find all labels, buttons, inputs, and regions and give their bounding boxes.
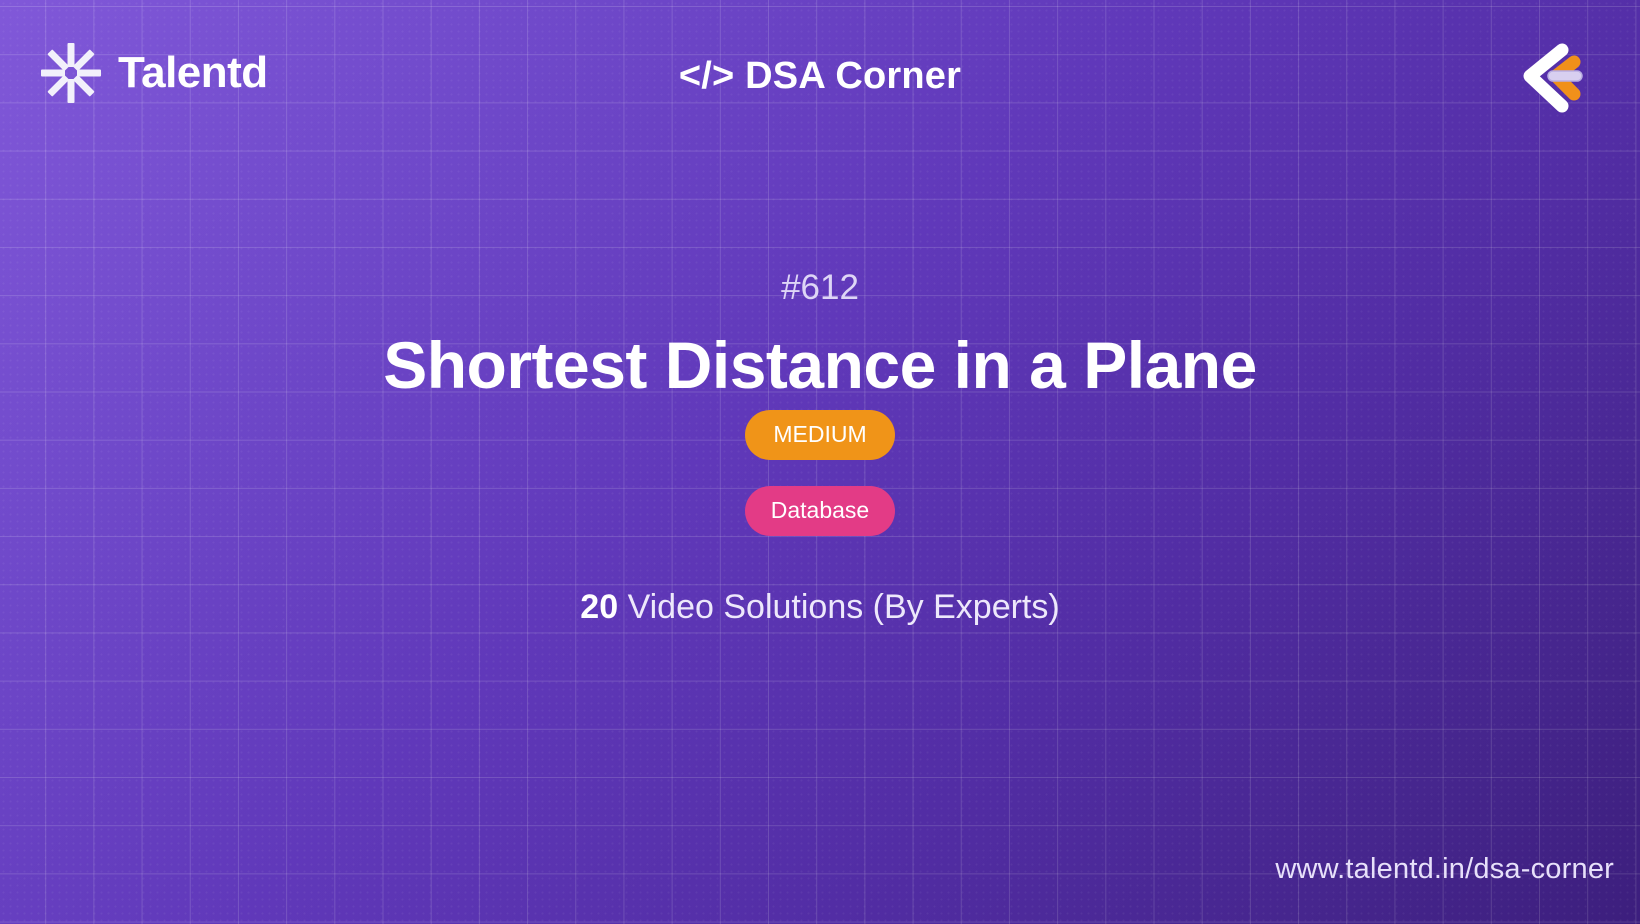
difficulty-badge: MEDIUM bbox=[745, 410, 894, 460]
chevron-c-brand-icon[interactable] bbox=[1496, 28, 1592, 124]
page-title: </> DSA Corner bbox=[0, 55, 1640, 98]
solutions-count: 20 bbox=[580, 588, 618, 626]
question-block: #612 Shortest Distance in a Plane MEDIUM… bbox=[0, 270, 1640, 624]
solutions-count-line: 20 Video Solutions (By Experts) bbox=[0, 590, 1640, 624]
question-title: Shortest Distance in a Plane bbox=[60, 331, 1580, 400]
page-header: Talentd </> DSA Corner bbox=[0, 0, 1640, 150]
dsa-corner-card: Talentd </> DSA Corner #612 Shortest Dis… bbox=[0, 0, 1640, 924]
footer-url[interactable]: www.talentd.in/dsa-corner bbox=[1275, 853, 1614, 886]
badge-group: MEDIUM Database bbox=[0, 410, 1640, 536]
topic-badge: Database bbox=[745, 486, 895, 536]
question-number: #612 bbox=[0, 270, 1640, 305]
solutions-label: Video Solutions (By Experts) bbox=[628, 588, 1060, 626]
